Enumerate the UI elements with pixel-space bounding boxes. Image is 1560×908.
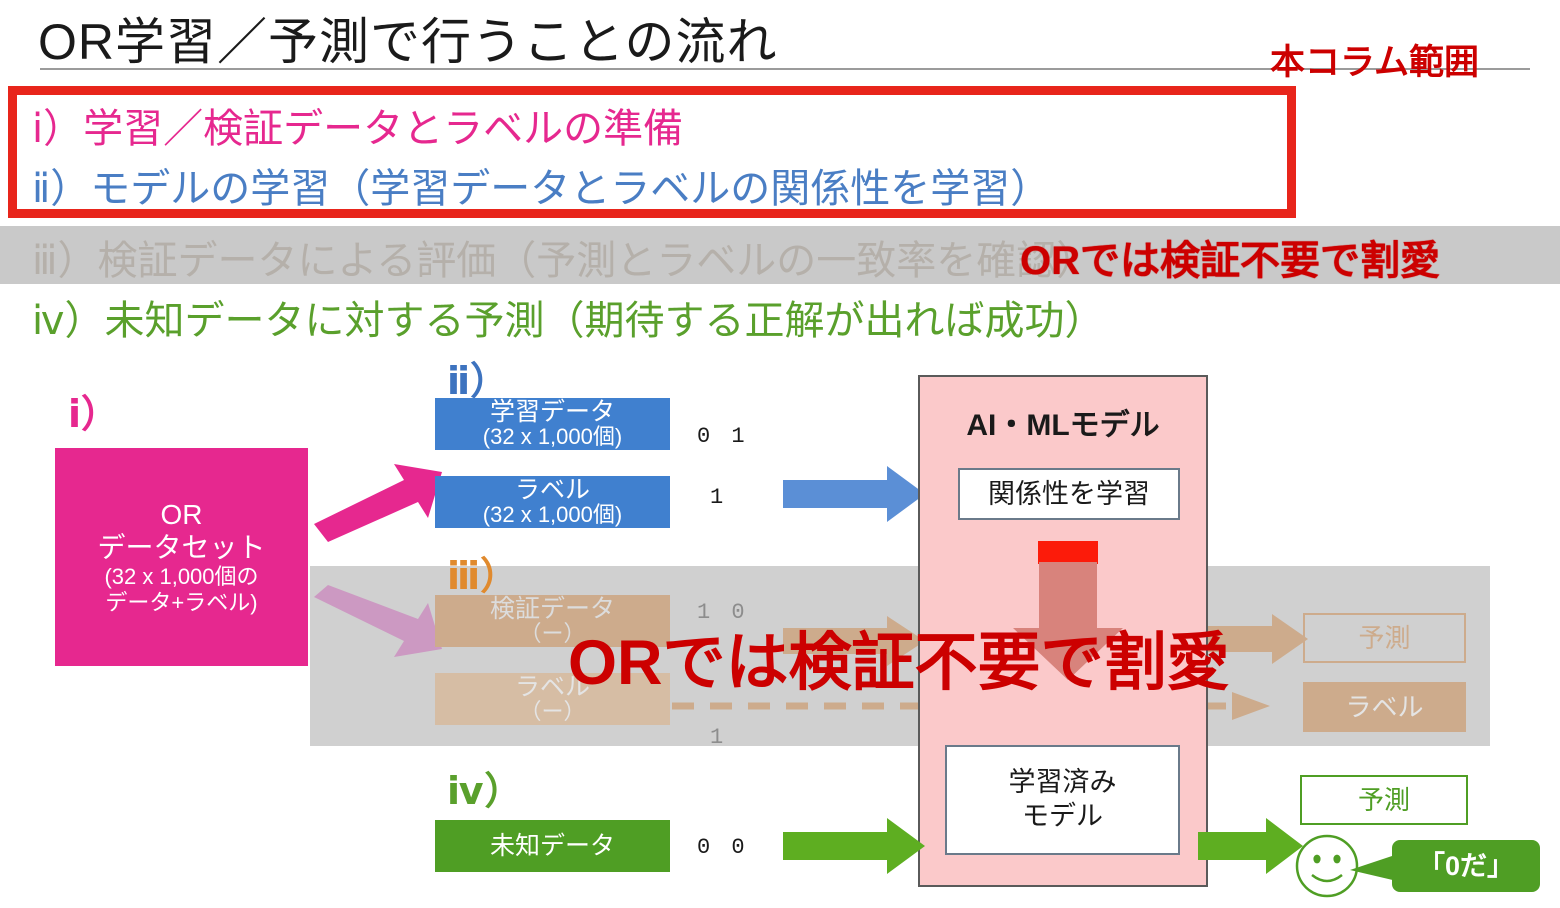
training-data-bits: 0 1 (697, 424, 749, 449)
or-dataset-box: OR データセット (32 x 1,000個の データ+ラベル) (55, 448, 308, 666)
arrow-dataset-to-train-icon (308, 462, 448, 542)
unknown-data-box: 未知データ (435, 820, 670, 872)
bullet-step-iv: ⅳ）未知データに対する予測（期待する正解が出れば成功） (32, 288, 1104, 346)
dataset-line-4: データ+ラベル) (97, 590, 265, 616)
validation-label-subtitle: （ー） (435, 701, 670, 723)
label-box-faded: ラベル (1303, 682, 1466, 732)
unknown-data-bits: 0 0 (697, 835, 749, 860)
trained-model-box: 学習済み モデル (945, 745, 1180, 855)
red-marker-tab (1038, 541, 1098, 564)
prediction-box-green: 予測 (1300, 775, 1468, 825)
arrow-train-to-model-icon (783, 466, 925, 522)
omit-note-bullets: ORでは検証不要で割愛 (1020, 228, 1440, 286)
diagram-step-iv-marker: ⅳ） (447, 760, 522, 815)
training-data-box: 学習データ (32 x 1,000個) (435, 398, 670, 450)
training-data-subtitle: (32 x 1,000個) (435, 426, 670, 448)
scope-label: 本コラム範囲 (1270, 34, 1479, 85)
learn-relationship-box: 関係性を学習 (958, 468, 1180, 520)
trained-model-line-1: 学習済み (1009, 766, 1117, 800)
prediction-box-faded: 予測 (1303, 613, 1466, 663)
trained-model-line-2: モデル (1022, 800, 1103, 834)
slide-canvas: OR学習／予測で行うことの流れ ⅰ）学習／検証データとラベルの準備 ⅱ）モデルの… (0, 0, 1560, 908)
diagram-step-iii-marker: ⅲ） (447, 545, 518, 600)
diagram-step-i-marker: ⅰ） (68, 383, 119, 438)
speech-bubble: 「0だ」 (1392, 840, 1540, 892)
page-title: OR学習／予測で行うことの流れ (38, 2, 1238, 74)
training-label-bits: 1 (710, 485, 727, 510)
ai-ml-model-title: AI・MLモデル (938, 400, 1188, 444)
dataset-line-1: OR (97, 498, 265, 531)
bullet-step-iii: ⅲ）検証データによる評価（予測とラベルの一致率を確認） (32, 228, 1096, 286)
dataset-line-3: (32 x 1,000個の (97, 564, 265, 590)
validation-label-bits: 1 (710, 725, 727, 750)
training-data-title: 学習データ (435, 400, 670, 426)
training-label-title: ラベル (435, 478, 670, 504)
scope-highlight-frame (8, 86, 1296, 218)
arrow-unknown-to-model-icon (783, 818, 925, 874)
training-label-box: ラベル (32 x 1,000個) (435, 476, 670, 528)
arrow-model-to-prediction-green-icon (1198, 818, 1303, 874)
diagram-step-ii-marker: ⅱ） (447, 350, 508, 405)
dataset-line-2: データセット (97, 531, 265, 564)
omit-note-diagram: ORでは検証不要で割愛 (568, 612, 1230, 703)
training-label-subtitle: (32 x 1,000個) (435, 504, 670, 526)
